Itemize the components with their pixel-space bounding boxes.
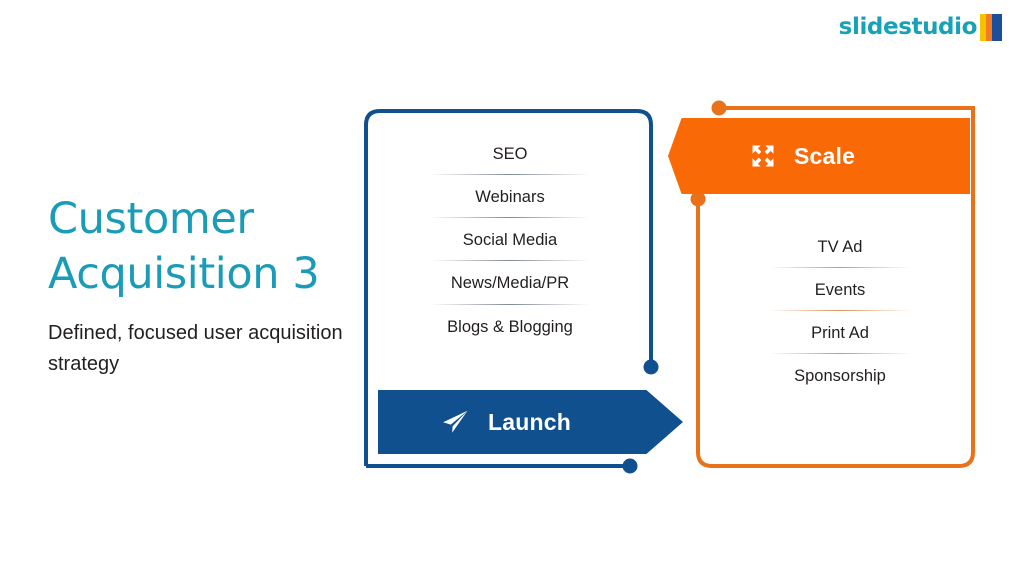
list-item[interactable]: Print Ad bbox=[755, 311, 925, 354]
acquisition-diagram: SEO Webinars Social Media News/Media/PR … bbox=[0, 0, 1024, 576]
scale-banner[interactable]: Scale bbox=[668, 118, 970, 194]
list-item[interactable]: SEO bbox=[415, 132, 605, 175]
list-item-label: Blogs & Blogging bbox=[447, 318, 573, 336]
list-item-label: Sponsorship bbox=[794, 367, 886, 385]
list-item[interactable]: Events bbox=[755, 268, 925, 311]
launch-connector-dot-top bbox=[644, 360, 659, 375]
list-item[interactable]: TV Ad bbox=[755, 225, 925, 268]
list-item-label: Webinars bbox=[475, 188, 544, 206]
launch-banner[interactable]: Launch bbox=[378, 390, 683, 454]
list-item[interactable]: News/Media/PR bbox=[415, 261, 605, 304]
paper-plane-icon bbox=[440, 407, 470, 437]
scale-banner-label: Scale bbox=[794, 143, 855, 170]
launch-banner-label: Launch bbox=[488, 409, 571, 436]
list-item-label: SEO bbox=[493, 145, 528, 163]
launch-channel-list: SEO Webinars Social Media News/Media/PR … bbox=[415, 132, 605, 348]
list-item-label: Social Media bbox=[463, 231, 557, 249]
scale-connector-dot-top bbox=[712, 101, 727, 116]
list-item[interactable]: Social Media bbox=[415, 218, 605, 261]
list-item-label: Print Ad bbox=[811, 324, 869, 342]
list-item-label: TV Ad bbox=[818, 238, 863, 256]
expand-arrows-icon bbox=[748, 141, 778, 171]
list-item[interactable]: Blogs & Blogging bbox=[415, 305, 605, 348]
launch-connector-dot-bottom bbox=[623, 459, 638, 474]
list-item[interactable]: Webinars bbox=[415, 175, 605, 218]
list-item-label: Events bbox=[815, 281, 865, 299]
list-item[interactable]: Sponsorship bbox=[755, 354, 925, 397]
list-item-label: News/Media/PR bbox=[451, 274, 569, 292]
scale-channel-list: TV Ad Events Print Ad Sponsorship bbox=[755, 225, 925, 398]
